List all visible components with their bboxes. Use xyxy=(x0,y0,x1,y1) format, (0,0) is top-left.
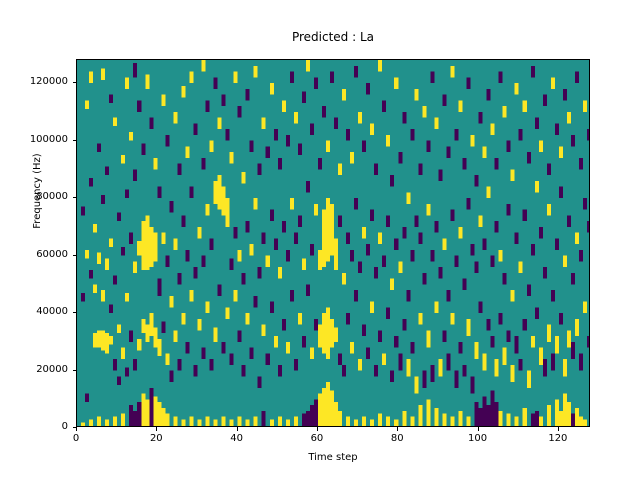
y-tick-label: 120000 xyxy=(0,77,68,87)
matplotlib-figure: Predicted : La Time step Frequency (Hz) … xyxy=(0,0,640,480)
x-tick-mark xyxy=(76,427,77,431)
y-tick-label: 80000 xyxy=(0,192,68,202)
x-tick-mark xyxy=(397,427,398,431)
x-tick-label: 60 xyxy=(297,433,337,445)
x-tick-mark xyxy=(478,427,479,431)
y-tick-mark xyxy=(73,82,77,83)
x-tick-label: 100 xyxy=(458,433,498,445)
x-tick-mark xyxy=(317,427,318,431)
x-tick-mark xyxy=(237,427,238,431)
y-tick-mark xyxy=(73,255,77,256)
x-tick-label: 40 xyxy=(217,433,257,445)
x-tick-label: 20 xyxy=(136,433,176,445)
chart-title: Predicted : La xyxy=(76,30,590,44)
x-tick-mark xyxy=(558,427,559,431)
y-tick-label: 20000 xyxy=(0,365,68,375)
y-tick-label: 0 xyxy=(0,422,68,432)
y-tick-mark xyxy=(73,370,77,371)
x-tick-label: 80 xyxy=(377,433,417,445)
y-tick-mark xyxy=(73,197,77,198)
y-tick-label: 40000 xyxy=(0,307,68,317)
y-tick-mark xyxy=(73,140,77,141)
heatmap-plot-area xyxy=(76,59,590,427)
y-tick-label: 100000 xyxy=(0,135,68,145)
x-tick-label: 120 xyxy=(538,433,578,445)
heatmap-image xyxy=(77,60,590,427)
y-tick-label: 60000 xyxy=(0,250,68,260)
x-axis-label: Time step xyxy=(76,452,590,464)
y-tick-mark xyxy=(73,312,77,313)
x-tick-mark xyxy=(156,427,157,431)
x-tick-label: 0 xyxy=(56,433,96,445)
